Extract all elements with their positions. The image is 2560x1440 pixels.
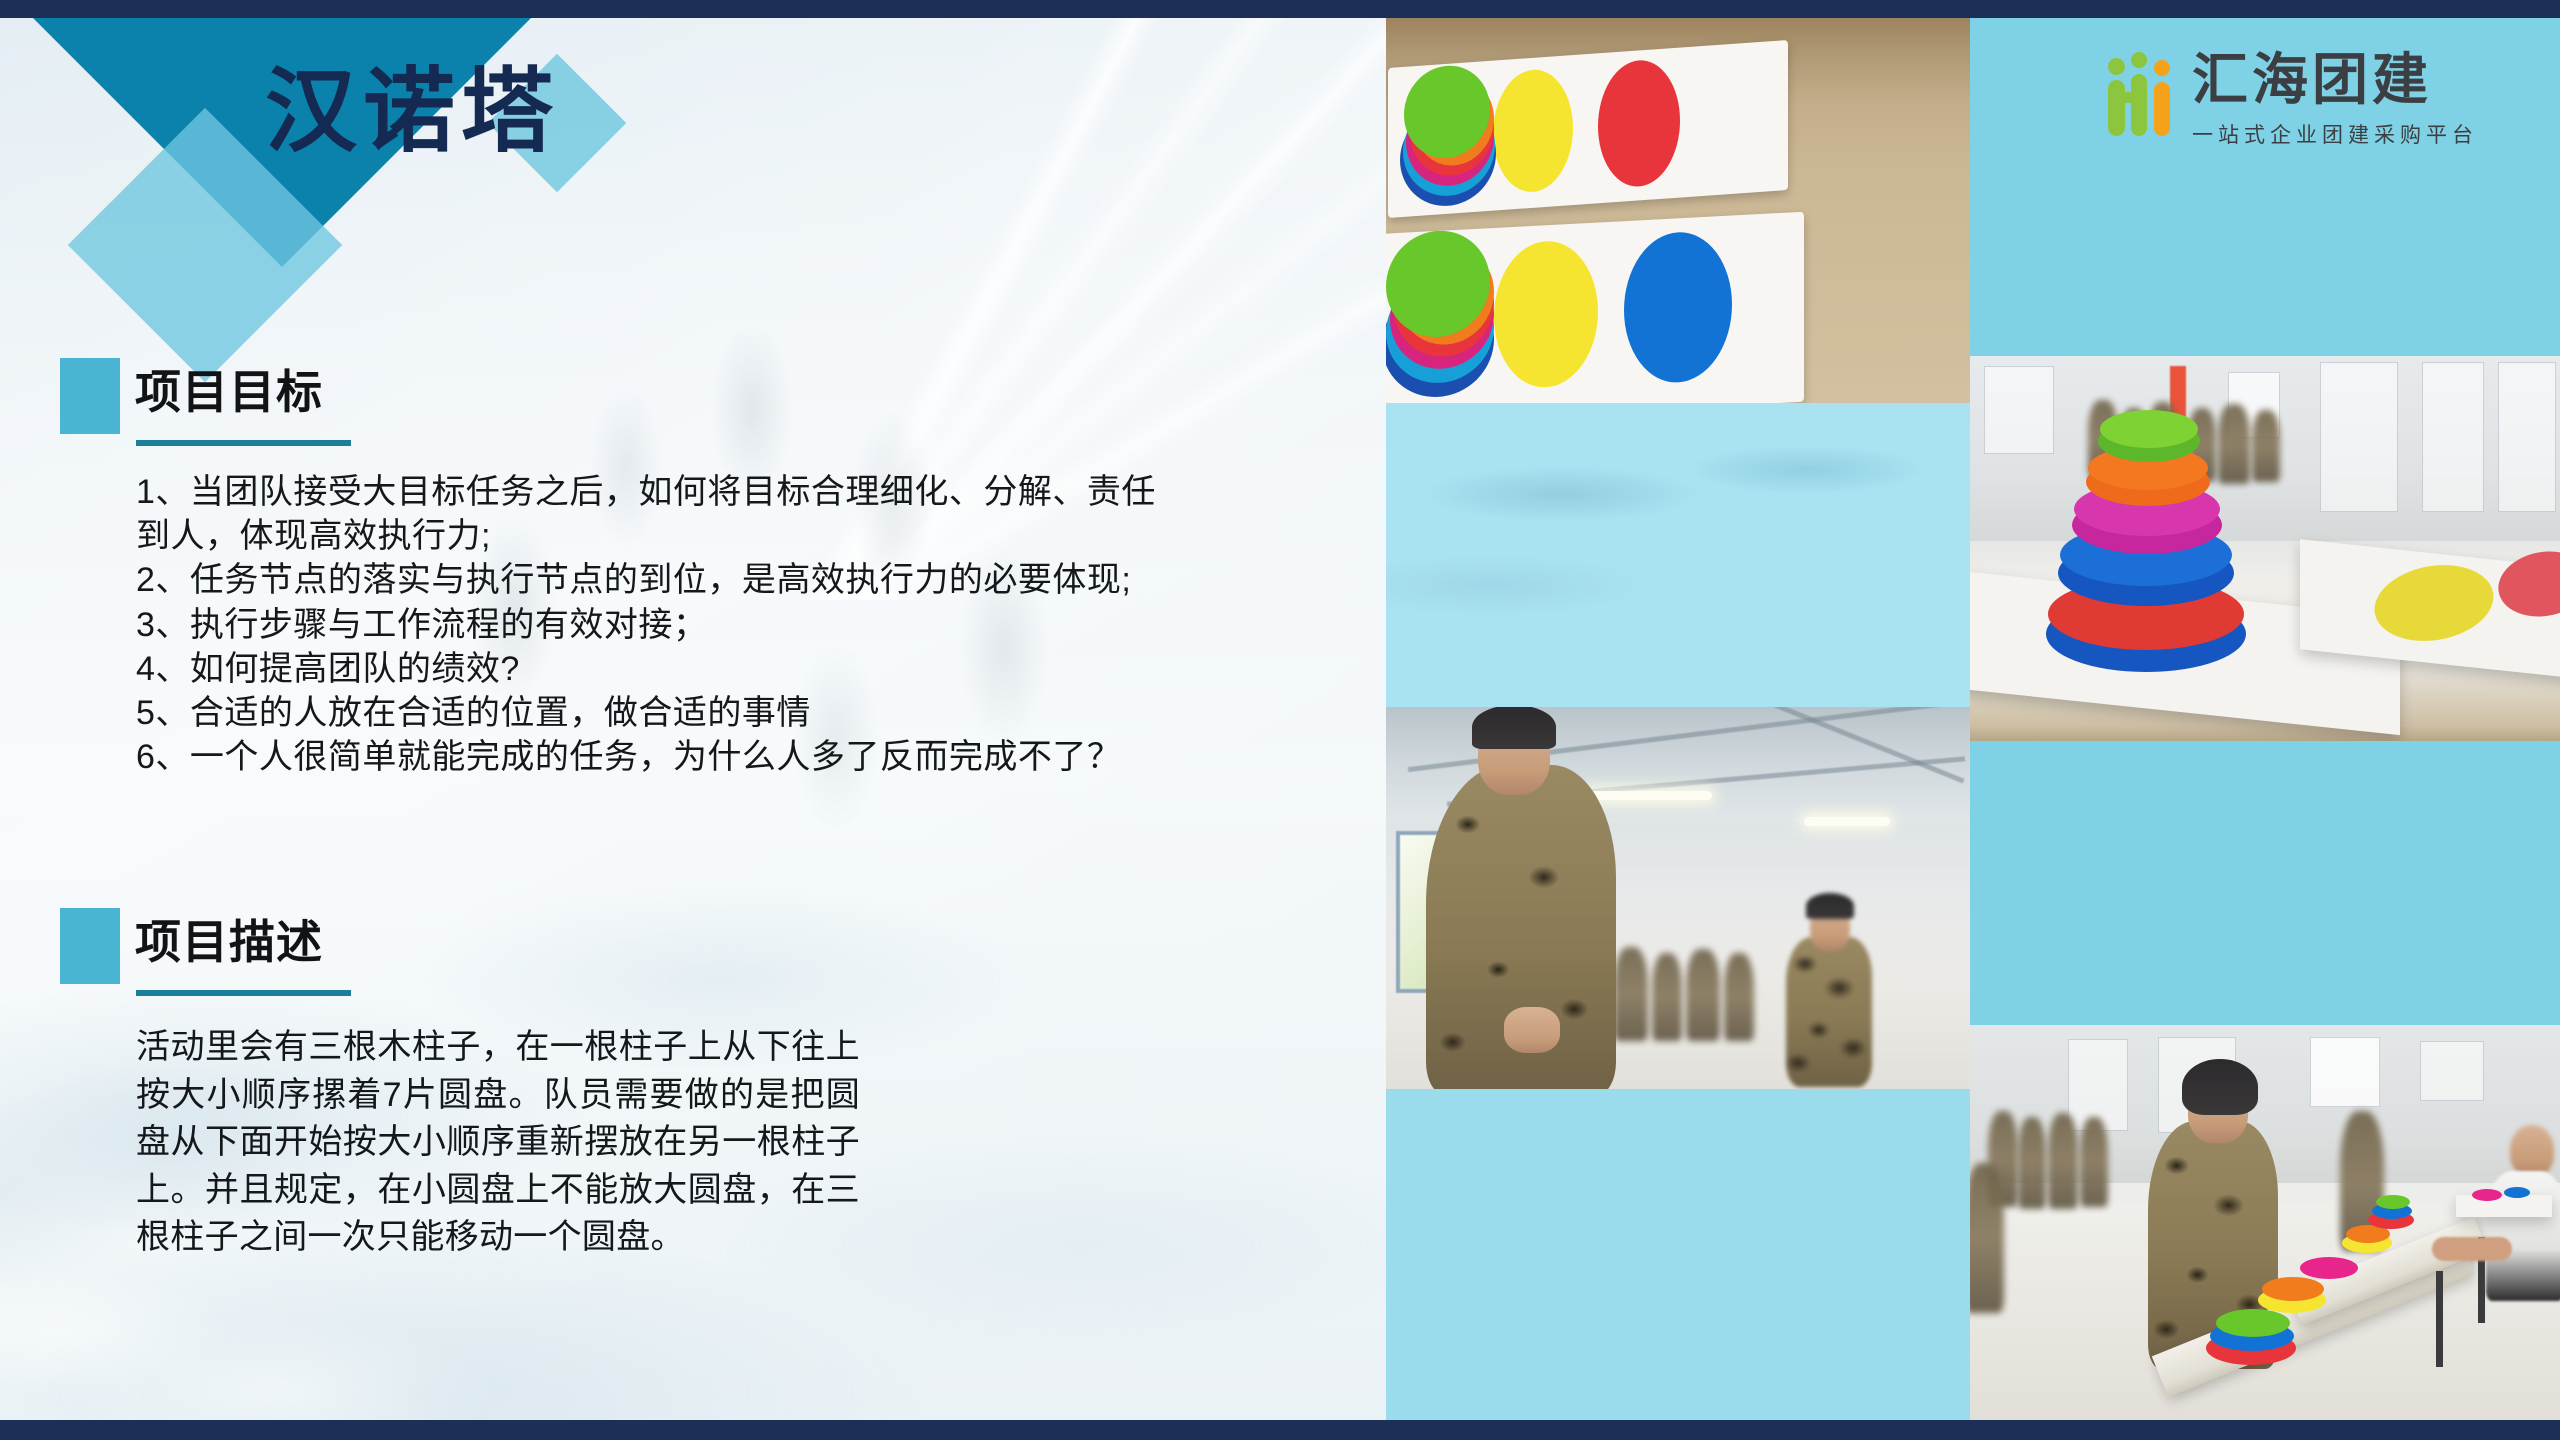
bottom-accent-bar	[0, 1420, 2560, 1440]
list-item: 3、执行步骤与工作流程的有效对接；	[60, 603, 1360, 647]
goal-bullet-list: 1、当团队接受大目标任务之后，如何将目标合理细化、分解、责任 到人，体现高效执行…	[60, 470, 1360, 779]
description-paragraph: 活动里会有三根木柱子，在一根柱子上从下往上按大小顺序摞着7片圆盘。队员需要做的是…	[60, 1024, 860, 1262]
section-underline	[136, 990, 351, 996]
list-item: 到人，体现高效执行力;	[60, 514, 1360, 558]
section-chip-icon	[60, 358, 120, 434]
photo-woman-bench	[1970, 1025, 2560, 1420]
brand-logo: 汇海团建 一站式企业团建采购平台	[2108, 52, 2478, 149]
list-item: 1、当团队接受大目标任务之后，如何将目标合理细化、分解、责任	[60, 470, 1360, 514]
decorative-cyan-block	[1970, 741, 2560, 1025]
hi-mark-icon	[2108, 52, 2178, 138]
section-underline	[136, 440, 351, 446]
top-accent-bar	[0, 0, 2560, 18]
photo-soldier-hall	[1386, 707, 1970, 1089]
section-description-title: 项目描述	[135, 906, 323, 972]
decorative-cyan-block	[1386, 1089, 1970, 1420]
list-item: 6、一个人很简单就能完成的任务，为什么人多了反而完成不了？	[60, 735, 1360, 779]
list-item: 5、合适的人放在合适的位置，做合适的事情	[60, 691, 1360, 735]
list-item: 4、如何提高团队的绩效?	[60, 647, 1360, 691]
list-item: 2、任务节点的落实与执行节点的到位，是高效执行力的必要体现;	[60, 558, 1360, 602]
photo-grid	[1386, 18, 2560, 1420]
logo-tagline: 一站式企业团建采购平台	[2192, 119, 2478, 149]
section-chip-icon	[60, 908, 120, 984]
presentation-slide: 汉诺塔 项目目标 1、当团队接受大目标任务之后，如何将目标合理细化、分解、责任 …	[0, 0, 2560, 1440]
section-goal-header: 项目目标	[60, 358, 1360, 474]
photo-tower-discs	[1970, 356, 2560, 741]
section-description: 项目描述 活动里会有三根木柱子，在一根柱子上从下往上按大小顺序摞着7片圆盘。队员…	[60, 908, 1360, 1262]
photo-discs-boards	[1386, 18, 1970, 403]
page-title: 汉诺塔	[265, 62, 559, 163]
logo-name: 汇海团建	[2192, 52, 2478, 108]
section-description-header: 项目描述	[60, 908, 1360, 1024]
section-goal-title: 项目目标	[135, 356, 323, 422]
section-goal: 项目目标 1、当团队接受大目标任务之后，如何将目标合理细化、分解、责任 到人，体…	[60, 358, 1360, 779]
decorative-cyan-block	[1386, 403, 1970, 707]
